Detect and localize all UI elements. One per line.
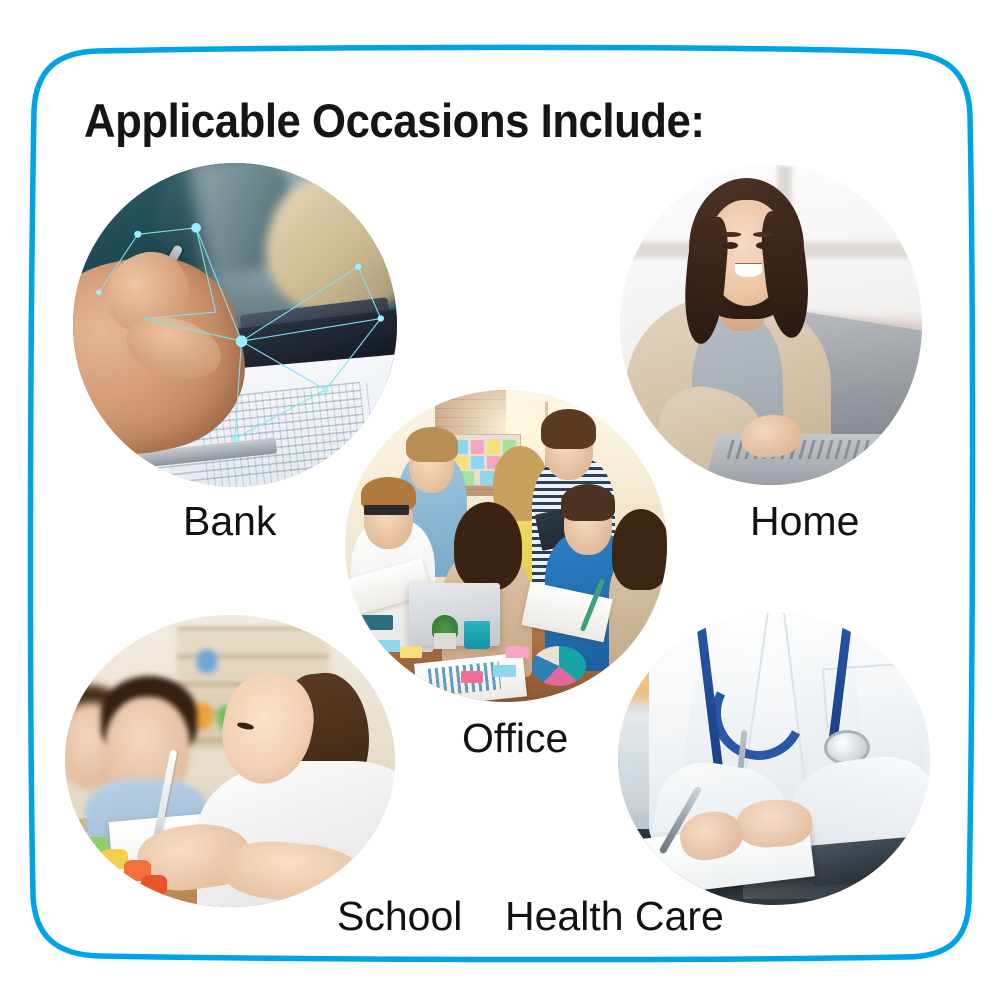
occasion-image-school bbox=[65, 615, 395, 907]
occasion-label-bank: Bank bbox=[183, 498, 276, 545]
occasion-label-home: Home bbox=[750, 498, 859, 545]
school-photo bbox=[65, 615, 395, 907]
occasion-label-office: Office bbox=[462, 715, 568, 762]
infographic-page: Applicable Occasions Include: bbox=[0, 0, 1000, 1000]
occasion-image-health-care bbox=[618, 613, 930, 905]
page-title: Applicable Occasions Include: bbox=[84, 93, 704, 148]
occasion-label-school: School bbox=[337, 893, 462, 940]
occasion-label-health-care: Health Care bbox=[505, 893, 724, 940]
health-care-photo bbox=[618, 613, 930, 905]
